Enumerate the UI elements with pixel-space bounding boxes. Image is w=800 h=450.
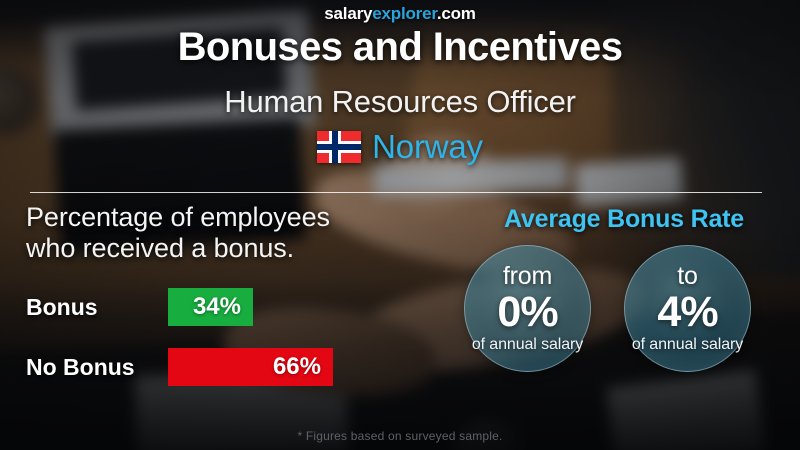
circle-to-prefix: to [677, 263, 697, 289]
content-layer: salaryexplorer.com Bonuses and Incentive… [0, 0, 800, 450]
circle-from-prefix: from [503, 263, 552, 289]
circle-from-suffix: of annual salary [472, 335, 583, 354]
flag-blue-horizontal [317, 144, 361, 150]
norway-flag-icon [317, 131, 361, 163]
infographic-canvas: salaryexplorer.com Bonuses and Incentive… [0, 0, 800, 450]
heading-line-2: who received a bonus. [26, 233, 456, 264]
circle-to-suffix: of annual salary [632, 335, 743, 354]
circle-to-value: 4% [657, 289, 717, 335]
circle-from-value: 0% [497, 289, 557, 335]
footnote: * Figures based on surveyed sample. [0, 429, 800, 443]
bar-value-bonus: 34% [168, 288, 253, 326]
bonus-rate-circle-from: from 0% of annual salary [464, 245, 591, 372]
logo-part-tld: .com [437, 4, 476, 23]
section-divider [30, 192, 762, 193]
bonus-distribution-heading: Percentage of employees who received a b… [26, 202, 456, 264]
job-title: Human Resources Officer [0, 84, 800, 120]
bar-value-no-bonus: 66% [168, 348, 333, 386]
site-logo[interactable]: salaryexplorer.com [0, 4, 800, 24]
page-title: Bonuses and Incentives [0, 25, 800, 70]
country-name: Norway [372, 128, 483, 166]
average-bonus-rate-heading: Average Bonus Rate [458, 205, 790, 234]
country-row: Norway [0, 128, 800, 166]
bonus-rate-circle-to: to 4% of annual salary [624, 245, 751, 372]
bar-label-no-bonus: No Bonus [26, 348, 135, 386]
bar-label-bonus: Bonus [26, 288, 98, 326]
logo-part-salary: salary [324, 4, 372, 23]
heading-line-1: Percentage of employees [26, 202, 456, 233]
logo-part-explorer: explorer [372, 4, 437, 23]
